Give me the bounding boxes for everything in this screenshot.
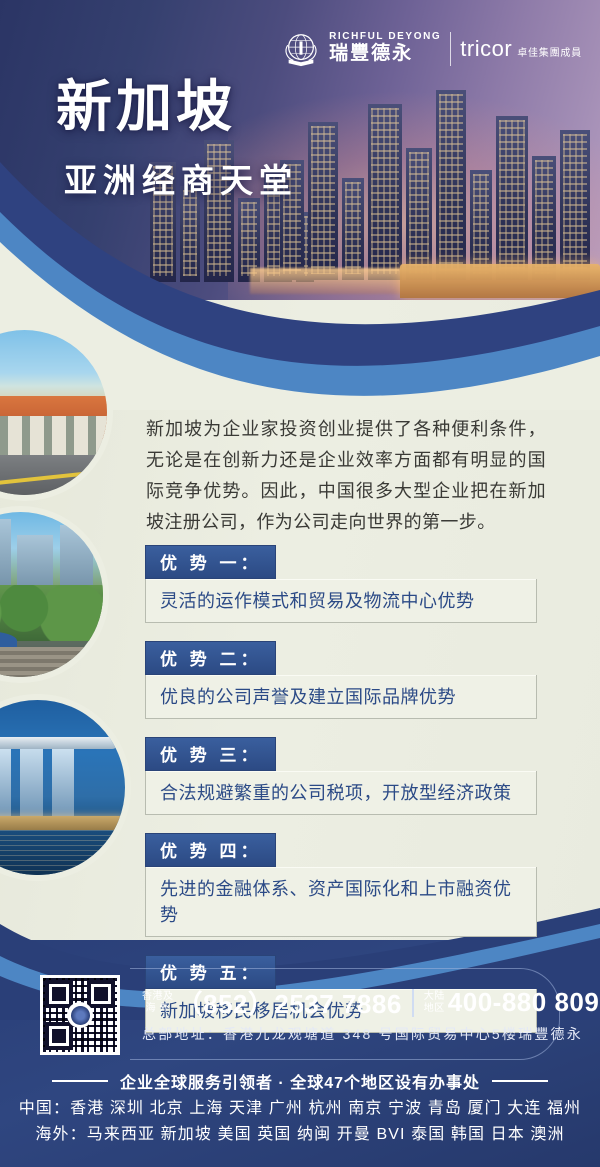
poster: 新加坡 亚洲经商天堂 RICHFUL DEYONG 瑞豐德永 trico	[0, 0, 600, 1167]
overseas-offices-row: 海外：马来西亚 新加坡 美国 英国 纳闽 开曼 BVI 泰国 韩国 日本 澳洲	[0, 1122, 600, 1148]
advantage-item: 优 势 一： 灵活的运作模式和贸易及物流中心优势	[145, 545, 537, 623]
qr-finder-top-right	[87, 980, 115, 1008]
headquarters-address: 总部地址：香港九龙观塘道 348 号国际贸易中心5楼瑞豐德永	[142, 1024, 583, 1044]
overseas-label: 海外：	[35, 1126, 86, 1143]
photo-circle-marina-bay-sands	[0, 700, 125, 875]
advantage-badge: 优 势 四：	[145, 833, 276, 867]
brand-chinese-name: 瑞豐德永	[329, 42, 413, 66]
china-label: 中国：	[19, 1100, 70, 1117]
phone-divider	[412, 989, 414, 1017]
hero-colonial-building	[400, 264, 600, 298]
qr-code[interactable]	[40, 975, 120, 1055]
hk-label-line2: 海 外	[142, 1003, 174, 1014]
hero-title-block: 新加坡 亚洲经商天堂	[56, 78, 298, 202]
overseas-cities: 马来西亚 新加坡 美国 英国 纳闽 开曼 BVI 泰国 韩国 日本 澳洲	[87, 1126, 565, 1143]
brand-divider	[450, 32, 451, 66]
advantage-text: 灵活的运作模式和贸易及物流中心优势	[145, 579, 537, 623]
advantage-item: 优 势 三： 合法规避繁重的公司税项，开放型经济政策	[145, 737, 537, 815]
advantage-badge: 优 势 二：	[145, 641, 276, 675]
advantage-badge: 优 势 一：	[145, 545, 276, 579]
photo-circle-cityscape	[0, 512, 103, 677]
partner-logo: tricor 卓佳集團成員	[460, 38, 582, 60]
crest-emblem-icon	[282, 30, 320, 68]
cn-phone-number[interactable]: 400-880 8098	[448, 987, 600, 1018]
hk-phone-number[interactable]: （852）2537 7886	[177, 984, 402, 1021]
office-regions: 中国：香港 深圳 北京 上海 天津 广州 杭州 南京 宁波 青岛 厦门 大连 福…	[0, 1096, 600, 1148]
page-title: 新加坡	[56, 78, 298, 136]
advantage-badge: 优 势 三：	[145, 737, 276, 771]
qr-finder-bottom-left	[45, 1022, 73, 1050]
footer-tagline: 企业全球服务引领者 · 全球47个地区设有办事处	[0, 1069, 600, 1093]
partner-chinese-name: 卓佳集團成員	[517, 44, 582, 59]
hk-label-line1: 香港及	[142, 991, 174, 1002]
advantage-item: 优 势 四： 先进的金融体系、资产国际化和上市融资优势	[145, 833, 537, 937]
phone-numbers: 香港及 海 外 （852）2537 7886 大陆 地区 400-880 809…	[142, 984, 600, 1021]
china-offices-row: 中国：香港 深圳 北京 上海 天津 广州 杭州 南京 宁波 青岛 厦门 大连 福…	[0, 1096, 600, 1122]
cn-label-line2: 地区	[424, 1003, 445, 1014]
tagline-rule-right	[492, 1080, 548, 1082]
qr-center-logo-icon	[67, 1002, 93, 1028]
partner-name: tricor	[460, 38, 512, 60]
tagline-rule-left	[52, 1080, 108, 1082]
cn-phone-label: 大陆 地区	[424, 991, 445, 1013]
brand-name-block: RICHFUL DEYONG 瑞豐德永	[329, 32, 441, 66]
hk-phone-label: 香港及 海 外	[142, 991, 174, 1013]
page-subtitle: 亚洲经商天堂	[64, 154, 298, 202]
brand-logo: RICHFUL DEYONG 瑞豐德永 tricor 卓佳集團成員	[282, 30, 582, 68]
advantage-item: 优 势 二： 优良的公司声誉及建立国际品牌优势	[145, 641, 537, 719]
photo-circle-shophouse	[0, 330, 107, 495]
advantage-text: 优良的公司声誉及建立国际品牌优势	[145, 675, 537, 719]
qr-finder-top-left	[45, 980, 73, 1008]
china-cities: 香港 深圳 北京 上海 天津 广州 杭州 南京 宁波 青岛 厦门 大连 福州	[70, 1100, 581, 1117]
hero-skyline	[280, 70, 600, 280]
brand-english-name: RICHFUL DEYONG	[329, 32, 441, 42]
advantage-text: 合法规避繁重的公司税项，开放型经济政策	[145, 771, 537, 815]
cn-label-line1: 大陆	[424, 991, 445, 1002]
contact-bar: 香港及 海 外 （852）2537 7886 大陆 地区 400-880 809…	[0, 968, 600, 1060]
intro-paragraph: 新加坡为企业家投资创业提供了各种便利条件，无论是在创新力还是企业效率方面都有明显…	[146, 414, 546, 538]
advantage-text: 先进的金融体系、资产国际化和上市融资优势	[145, 867, 537, 937]
tagline-text: 企业全球服务引领者 · 全球47个地区设有办事处	[120, 1069, 480, 1093]
